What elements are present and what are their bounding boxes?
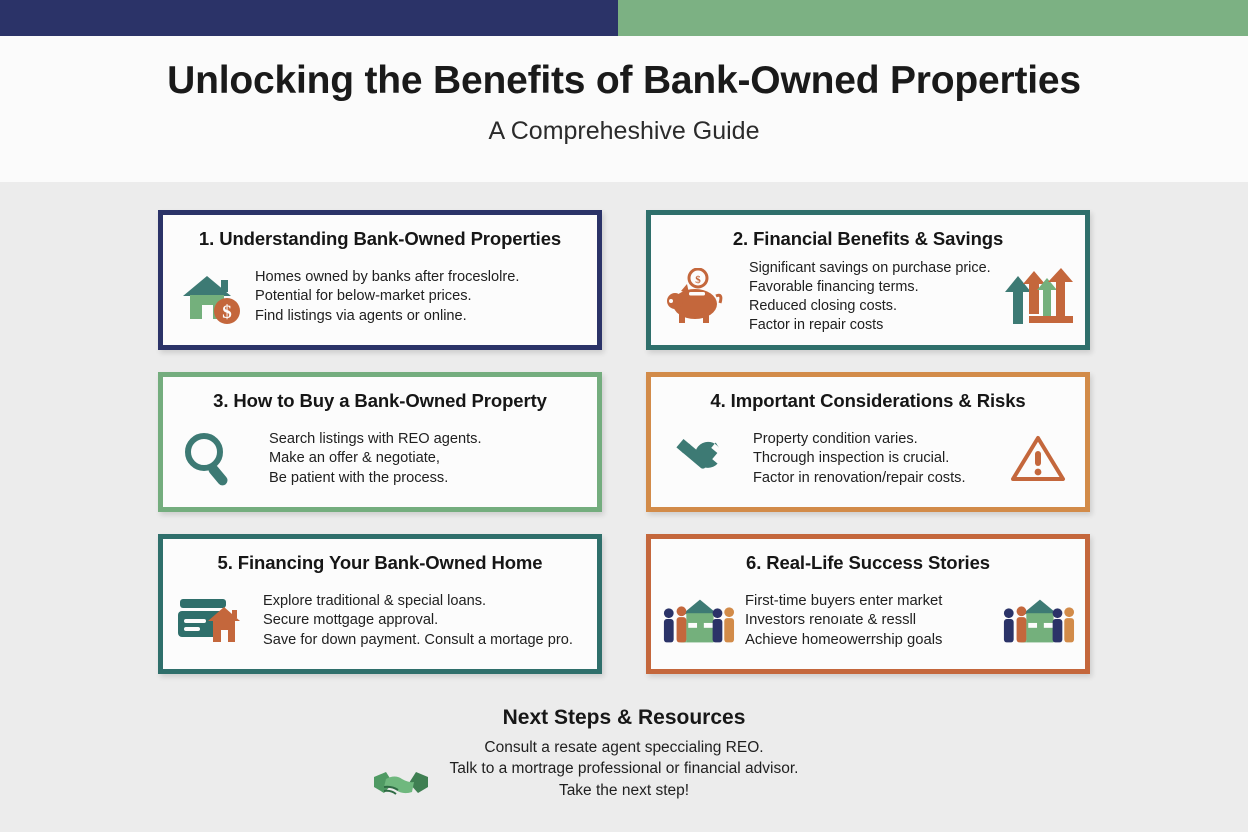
- footer-next-steps: Next Steps & Resources Consult a resate …: [0, 706, 1248, 801]
- card-2-bullet-3: Reduced closing costs.: [749, 297, 1001, 316]
- card-4-important-considerations-and-risks[interactable]: 4. Important Considerations & Risks Pro: [646, 372, 1090, 512]
- card-5-bullets: Explore traditional & special loans. Sec…: [247, 592, 587, 650]
- people-and-house-icon-secondary: [1001, 596, 1075, 646]
- footer-lines: Consult a resate agent speccialing REO. …: [450, 737, 799, 801]
- handshake-icon: [372, 767, 430, 806]
- card-1-bullet-2: Potential for below-market prices.: [255, 287, 587, 306]
- infographic-page: Unlocking the Benefits of Bank-Owned Pro…: [0, 0, 1248, 832]
- svg-text:$: $: [222, 302, 232, 323]
- card-6-title: 6. Real-Life Success Stories: [651, 539, 1085, 574]
- top-accent-bar-navy-segment: [0, 0, 618, 36]
- card-2-financial-benefits-and-savings[interactable]: 2. Financial Benefits & Savings $: [646, 210, 1090, 350]
- card-1-title: 1. Understanding Bank-Owned Properties: [163, 215, 597, 250]
- card-5-body: Explore traditional & special loans. Sec…: [163, 574, 597, 662]
- card-4-bullet-1: Property condition varies.: [753, 430, 1001, 449]
- cards-row-2: 3. How to Buy a Bank-Owned Property Sear…: [158, 372, 1090, 512]
- card-2-bullet-1: Significant savings on purchase price.: [749, 259, 1001, 278]
- card-4-body: Property condition varies. Thcrough insp…: [651, 412, 1085, 500]
- card-6-bullets: First-time buyers enter market Investors…: [735, 592, 1001, 651]
- card-6-real-life-success-stories[interactable]: 6. Real-Life Success Stories: [646, 534, 1090, 674]
- card-2-bullet-2: Favorable financing terms.: [749, 278, 1001, 297]
- magnifying-glass-icon: [173, 430, 247, 488]
- card-3-bullet-1: Search listings with REO agents.: [269, 430, 587, 449]
- card-3-bullet-2: Make an offer & negotiate,: [269, 449, 587, 468]
- card-3-how-to-buy-a-bank-owned-property[interactable]: 3. How to Buy a Bank-Owned Property Sear…: [158, 372, 602, 512]
- card-1-understanding-bank-owned-properties[interactable]: 1. Understanding Bank-Owned Properties $: [158, 210, 602, 350]
- card-2-bullet-4: Factor in repair costs: [749, 316, 1001, 335]
- wrench-icon: [661, 431, 735, 487]
- card-1-bullet-3: Find listings via agents or online.: [255, 307, 587, 326]
- card-3-body: Search listings with REO agents. Make an…: [163, 412, 597, 500]
- svg-text:$: $: [695, 274, 701, 286]
- top-accent-bar: [0, 0, 1248, 36]
- card-3-title: 3. How to Buy a Bank-Owned Property: [163, 377, 597, 412]
- card-6-bullet-1: First-time buyers enter market: [745, 592, 1001, 612]
- card-4-title: 4. Important Considerations & Risks: [651, 377, 1085, 412]
- card-2-bullets: Significant savings on purchase price. F…: [735, 259, 1001, 335]
- piggy-bank-icon: $: [661, 268, 735, 326]
- cards-row-3: 5. Financing Your Bank-Owned Home: [158, 534, 1090, 674]
- card-2-title: 2. Financial Benefits & Savings: [651, 215, 1085, 250]
- people-and-house-icon: [661, 596, 735, 646]
- top-accent-bar-green-segment: [618, 0, 1248, 36]
- card-5-bullet-1: Explore traditional & special loans.: [263, 592, 587, 611]
- warning-triangle-icon: [1001, 433, 1075, 485]
- card-3-bullet-3: Be patient with the process.: [269, 469, 587, 488]
- footer-title: Next Steps & Resources: [0, 706, 1248, 730]
- card-2-body: $ Significant savings on purchase: [651, 250, 1085, 338]
- card-4-bullet-3: Factor in renovation/repair costs.: [753, 469, 1001, 488]
- card-1-body: $ Homes owned by banks after froceslolre…: [163, 250, 597, 338]
- page-subtitle: A Compreheshive Guide: [0, 103, 1248, 146]
- title-block: Unlocking the Benefits of Bank-Owned Pro…: [0, 36, 1248, 182]
- footer-body: Consult a resate agent speccialing REO. …: [450, 737, 799, 801]
- card-5-title: 5. Financing Your Bank-Owned Home: [163, 539, 597, 574]
- page-title: Unlocking the Benefits of Bank-Owned Pro…: [0, 36, 1248, 103]
- card-6-body: First-time buyers enter market Investors…: [651, 574, 1085, 662]
- growth-arrows-icon: [1001, 266, 1075, 328]
- card-1-bullet-1: Homes owned by banks after froceslolre.: [255, 268, 587, 287]
- card-5-bullet-3: Save for down payment. Consult a mortage…: [263, 631, 587, 650]
- house-with-dollar-coin-icon: $: [173, 269, 247, 325]
- cards-grid: 1. Understanding Bank-Owned Properties $: [158, 210, 1090, 696]
- card-6-bullet-3: Achieve homeowerrship goals: [745, 631, 1001, 651]
- card-3-bullets: Search listings with REO agents. Make an…: [247, 430, 587, 488]
- footer-line-1: Consult a resate agent speccialing REO.: [450, 737, 799, 758]
- card-1-bullets: Homes owned by banks after froceslolre. …: [247, 268, 587, 326]
- card-4-bullet-2: Thcrough inspection is crucial.: [753, 449, 1001, 468]
- footer-line-2: Talk to a mortrage professional or finan…: [450, 758, 799, 779]
- card-5-bullet-2: Secure mottgage approval.: [263, 611, 587, 630]
- credit-card-house-icon: [173, 595, 247, 647]
- footer-line-3: Take the next step!: [450, 780, 799, 801]
- card-4-bullets: Property condition varies. Thcrough insp…: [735, 430, 1001, 488]
- card-5-financing-your-bank-owned-home[interactable]: 5. Financing Your Bank-Owned Home: [158, 534, 602, 674]
- cards-row-1: 1. Understanding Bank-Owned Properties $: [158, 210, 1090, 350]
- card-6-bullet-2: Investors renoıate & ressll: [745, 611, 1001, 631]
